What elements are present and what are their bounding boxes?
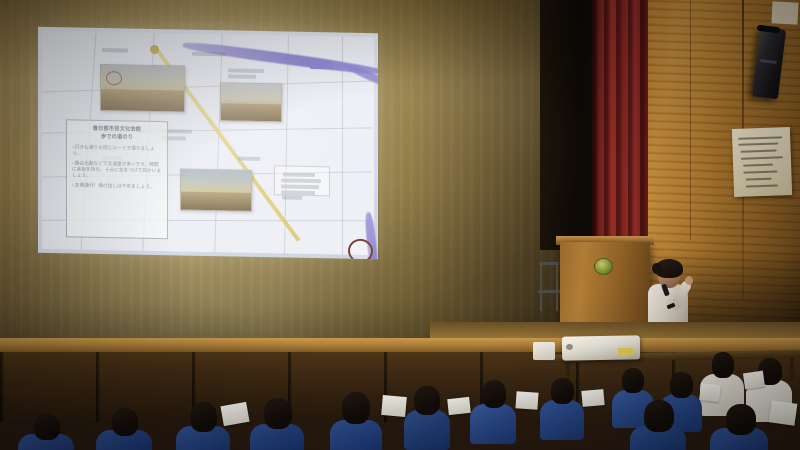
student-figure (470, 380, 516, 440)
handout-paper (743, 371, 765, 390)
projector-lens-icon (566, 344, 573, 350)
slide-paragraph-3: ○左側通行！飛び出しはやめましょう。 (72, 182, 162, 190)
white-equipment-box (533, 342, 555, 360)
handout-paper (447, 397, 471, 415)
river-purple-band (182, 40, 378, 79)
route-photo-3 (180, 168, 252, 211)
photo-scene: 春日部市民文化会館 歩での道のり ○行きも帰りも同じルートで帰りましょう。 ○朝… (0, 0, 800, 450)
handout-paper (220, 402, 249, 426)
podium (560, 242, 650, 328)
student-figure (630, 400, 686, 450)
route-photo-1 (100, 64, 185, 113)
handout-paper (699, 383, 721, 402)
presenter-raised-hand (685, 276, 693, 285)
student-figure (330, 392, 382, 450)
student-figure (540, 378, 584, 436)
map-callout-box (274, 165, 330, 196)
slide-paragraph-1: ○行きも帰りも同じルートで帰りましょう。 (72, 144, 162, 158)
slide-paragraph-2: ○朝は出勤などで交通量が多いです。時間に余裕を持ち、十分に気をつけて向かいましょ… (72, 160, 162, 180)
handout-paper (581, 389, 604, 407)
projector-asset-sticker (618, 348, 633, 355)
student-figure (404, 386, 450, 446)
map-legend-chip (310, 62, 333, 69)
presenter-hair-bun (652, 263, 662, 274)
slide-content: 春日部市民文化会館 歩での道のり ○行きも帰りも同じルートで帰りましょう。 ○朝… (38, 27, 378, 260)
wall-paper-corner (771, 1, 798, 24)
wall-panel-seam-2 (690, 0, 691, 240)
student-figure (710, 404, 768, 450)
school-emblem-icon (594, 258, 613, 275)
handout-paper (515, 391, 538, 409)
handout-paper (381, 395, 407, 417)
slide-title-line2: 歩での道のり (72, 133, 162, 142)
student-figure (96, 408, 152, 450)
slide-instruction-textbox: 春日部市民文化会館 歩での道のり ○行きも帰りも同じルートで帰りましょう。 ○朝… (66, 119, 168, 239)
student-figure (18, 414, 74, 450)
handout-paper (769, 400, 798, 425)
wall-notice-paper (732, 127, 792, 197)
route-start-marker (150, 45, 159, 54)
student-figure (250, 398, 304, 450)
red-curtain-folds (592, 0, 652, 240)
destination-circle-marker (348, 239, 373, 260)
map-background: 春日部市民文化会館 歩での道のり ○行きも帰りも同じルートで帰りましょう。 ○朝… (42, 31, 374, 255)
route-photo-2 (220, 82, 282, 122)
projection-screen: 春日部市民文化会館 歩での道のり ○行きも帰りも同じルートで帰りましょう。 ○朝… (38, 27, 378, 260)
student-figure (700, 352, 744, 412)
